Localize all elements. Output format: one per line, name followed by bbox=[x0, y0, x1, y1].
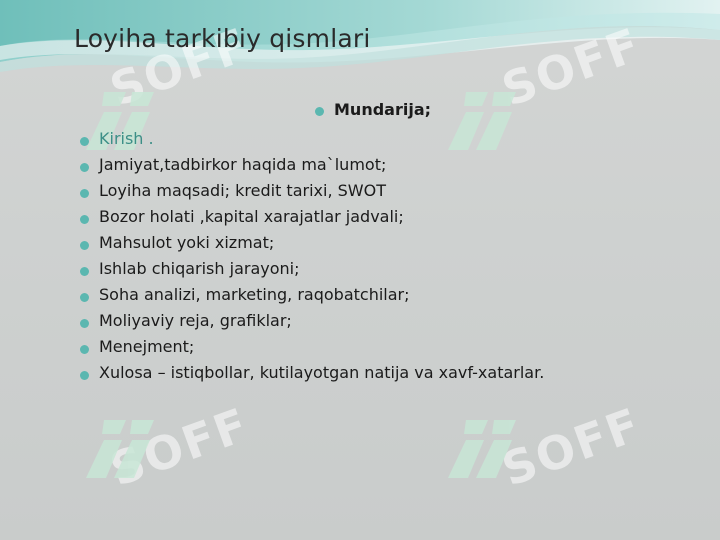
watermark-text: SOFF bbox=[495, 397, 648, 497]
watermark-text: SOFF bbox=[103, 397, 256, 497]
bullet-icon bbox=[80, 189, 89, 198]
bullet-icon bbox=[80, 137, 89, 146]
list-item-label: Soha analizi, marketing, raqobatchilar; bbox=[99, 286, 410, 304]
list-item: Mahsulot yoki xizmat; bbox=[80, 234, 720, 252]
bullet-icon bbox=[315, 107, 324, 116]
list-item: Moliyaviy reja, grafiklar; bbox=[80, 312, 720, 330]
list-item-label: Moliyaviy reja, grafiklar; bbox=[99, 312, 292, 330]
bullet-icon bbox=[80, 163, 89, 172]
list-item: Kirish . bbox=[80, 130, 720, 148]
list-item: Ishlab chiqarish jarayoni; bbox=[80, 260, 720, 278]
list-item-label: Bozor holati ,kapital xarajatlar jadvali… bbox=[99, 208, 404, 226]
content-heading-label: Mundarija; bbox=[334, 100, 431, 119]
bullet-icon bbox=[80, 267, 89, 276]
list-item-label: Loyiha maqsadi; kredit tarixi, SWOT bbox=[99, 182, 386, 200]
list-item: Xulosa – istiqbollar, kutilayotgan natij… bbox=[80, 364, 720, 382]
bullet-icon bbox=[80, 345, 89, 354]
content-list: Kirish . Jamiyat,tadbirkor haqida ma`lum… bbox=[0, 130, 720, 382]
list-item: Loyiha maqsadi; kredit tarixi, SWOT bbox=[80, 182, 720, 200]
slide: SOFF SOFF SOFF SOFF Loyiha tarkibiy qism… bbox=[0, 0, 720, 540]
list-item: Bozor holati ,kapital xarajatlar jadvali… bbox=[80, 208, 720, 226]
bullet-icon bbox=[80, 371, 89, 380]
bullet-icon bbox=[80, 241, 89, 250]
bullet-icon bbox=[80, 293, 89, 302]
list-item-label: Ishlab chiqarish jarayoni; bbox=[99, 260, 299, 278]
page-title: Loyiha tarkibiy qismlari bbox=[74, 24, 371, 53]
list-item: Menejment; bbox=[80, 338, 720, 356]
list-item-label: Jamiyat,tadbirkor haqida ma`lumot; bbox=[99, 156, 386, 174]
bullet-icon bbox=[80, 319, 89, 328]
list-item-label: Menejment; bbox=[99, 338, 194, 356]
bullet-icon bbox=[80, 215, 89, 224]
slide-content: Mundarija; Kirish . Jamiyat,tadbirkor ha… bbox=[0, 100, 720, 390]
content-heading: Mundarija; bbox=[315, 100, 720, 119]
list-item: Jamiyat,tadbirkor haqida ma`lumot; bbox=[80, 156, 720, 174]
list-item: Soha analizi, marketing, raqobatchilar; bbox=[80, 286, 720, 304]
list-item-label: Xulosa – istiqbollar, kutilayotgan natij… bbox=[99, 364, 544, 382]
list-item-label: Mahsulot yoki xizmat; bbox=[99, 234, 274, 252]
list-item-label: Kirish . bbox=[99, 130, 154, 148]
